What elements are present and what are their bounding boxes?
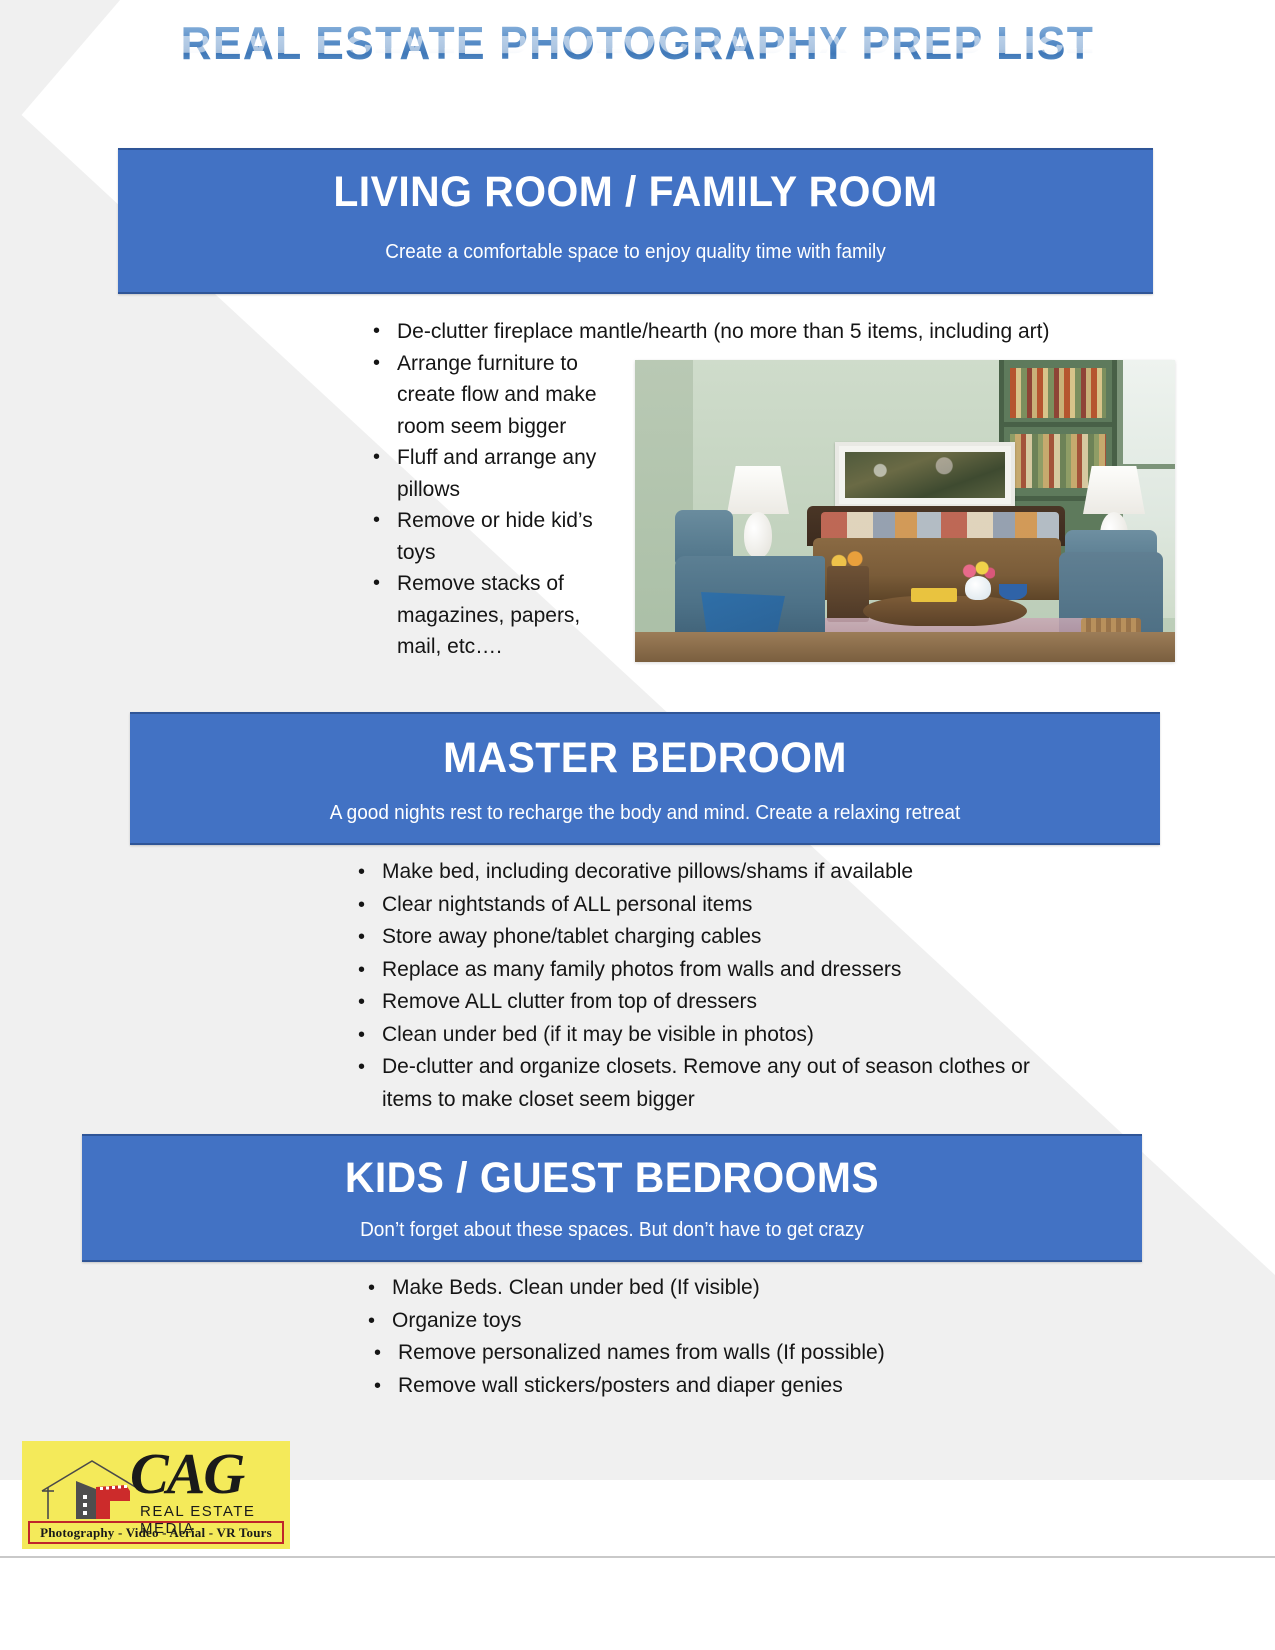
- photo-lamp-shade-left: [727, 466, 789, 514]
- list-item-text: Make bed, including decorative pillows/s…: [382, 860, 913, 883]
- list-item-text: Replace as many family photos from walls…: [382, 958, 901, 981]
- photo-books-row-1: [1010, 368, 1106, 418]
- section-subtitle-living-room: Create a comfortable space to enjoy qual…: [144, 241, 1127, 264]
- list-item: Remove wall stickers/posters and diaper …: [350, 1370, 950, 1403]
- list-item: De-clutter and organize closets. Remove …: [340, 1051, 1080, 1116]
- logo-monogram: CAG: [130, 1443, 243, 1505]
- list-item: Make bed, including decorative pillows/s…: [340, 856, 1080, 889]
- list-item-text: De-clutter and organize closets. Remove …: [382, 1055, 1030, 1111]
- page-title-block: REAL ESTATE PHOTOGRAPHY PREP LIST REAL E…: [0, 16, 1275, 108]
- logo-inner: CAG REAL ESTATE MEDIA Photography - Vide…: [22, 1441, 290, 1549]
- section-title-master-bedroom: MASTER BEDROOM: [156, 734, 1135, 783]
- list-item-text: Organize toys: [392, 1309, 522, 1332]
- section-header-kids-guest-bedrooms: KIDS / GUEST BEDROOMS Don’t forget about…: [82, 1134, 1142, 1262]
- list-item-text: Remove ALL clutter from top of dressers: [382, 990, 757, 1013]
- list-item: Remove or hide kid’s toys: [355, 505, 623, 568]
- section-subtitle-master-bedroom: A good nights rest to recharge the body …: [156, 802, 1135, 825]
- list-item: Organize toys: [350, 1305, 950, 1338]
- photo-side-table: [827, 566, 869, 622]
- photo-vase: [965, 576, 991, 600]
- list-item: De-clutter fireplace mantle/hearth (no m…: [355, 316, 1070, 348]
- list-item-text: Remove stacks of magazines, papers, mail…: [397, 572, 580, 658]
- list-item: Remove stacks of magazines, papers, mail…: [355, 568, 623, 663]
- section-header-living-room: LIVING ROOM / FAMILY ROOM Create a comfo…: [118, 148, 1153, 294]
- list-item-text: Remove or hide kid’s toys: [397, 509, 593, 564]
- list-item: Remove ALL clutter from top of dressers: [340, 986, 1080, 1019]
- section-header-master-bedroom: MASTER BEDROOM A good nights rest to rec…: [130, 712, 1160, 845]
- section-title-living-room: LIVING ROOM / FAMILY ROOM: [144, 168, 1127, 217]
- photo-framed-art: [835, 442, 1015, 508]
- list-item: Fluff and arrange any pillows: [355, 442, 623, 505]
- list-item-text: Store away phone/tablet charging cables: [382, 925, 761, 948]
- photo-lamp-shade-right: [1083, 466, 1145, 514]
- list-item-text: Arrange furniture to create flow and mak…: [397, 352, 597, 438]
- photo-blue-bowl: [999, 584, 1027, 600]
- photo-hardwood-floor: [635, 632, 1175, 662]
- list-item-text: Make Beds. Clean under bed (If visible): [392, 1276, 760, 1299]
- list-item: Replace as many family photos from walls…: [340, 954, 1080, 987]
- list-item-text: Remove wall stickers/posters and diaper …: [398, 1374, 843, 1397]
- list-item-text: Clean under bed (if it may be visible in…: [382, 1023, 814, 1046]
- page-title-reflection: REAL ESTATE PHOTOGRAPHY PREP LIST: [45, 36, 1231, 64]
- list-item: Arrange furniture to create flow and mak…: [355, 348, 623, 443]
- list-item: Remove personalized names from walls (If…: [350, 1337, 950, 1370]
- photo-yellow-book: [911, 588, 957, 602]
- footer-divider: [0, 1556, 1275, 1558]
- list-item-text: Remove personalized names from walls (If…: [398, 1341, 885, 1364]
- checklist-kids-guest-bedrooms: Make Beds. Clean under bed (If visible) …: [350, 1272, 950, 1402]
- list-item: Clean under bed (if it may be visible in…: [340, 1019, 1080, 1052]
- list-item: Make Beds. Clean under bed (If visible): [350, 1272, 950, 1305]
- list-item-text: Clear nightstands of ALL personal items: [382, 893, 752, 916]
- checklist-master-bedroom: Make bed, including decorative pillows/s…: [340, 856, 1080, 1116]
- list-item-text: De-clutter fireplace mantle/hearth (no m…: [397, 320, 1049, 343]
- section-subtitle-kids-guest-bedrooms: Don’t forget about these spaces. But don…: [109, 1219, 1116, 1242]
- list-item-text: Fluff and arrange any pillows: [397, 446, 596, 501]
- section-title-kids-guest-bedrooms: KIDS / GUEST BEDROOMS: [109, 1154, 1116, 1203]
- photo-lamp-base-left: [744, 512, 772, 558]
- photo-art-canvas: [845, 452, 1005, 498]
- list-item: Clear nightstands of ALL personal items: [340, 889, 1080, 922]
- living-room-photo: [635, 360, 1175, 662]
- list-item: Store away phone/tablet charging cables: [340, 921, 1080, 954]
- cag-logo: CAG REAL ESTATE MEDIA Photography - Vide…: [22, 1441, 290, 1549]
- logo-tagline: Photography - Video - Aerial - VR Tours: [28, 1521, 284, 1544]
